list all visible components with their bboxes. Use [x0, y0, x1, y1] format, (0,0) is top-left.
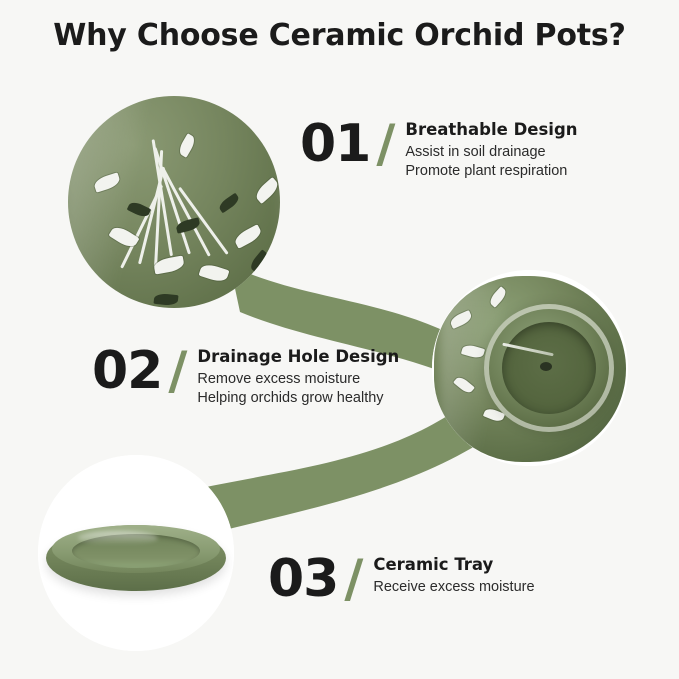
cutout-leaf — [177, 133, 198, 158]
feature-number-3: 03 — [268, 553, 338, 605]
feature-text-3: Ceramic Tray Receive excess moisture — [373, 553, 534, 597]
feature-number-1: 01 — [300, 118, 370, 170]
pot-highlight — [68, 96, 152, 308]
feature-number-2: 02 — [92, 345, 162, 397]
feature-text-1: Breathable Design Assist in soil drainag… — [405, 118, 577, 181]
perforated-pot-artwork — [68, 96, 280, 308]
feature-image-1 — [68, 96, 280, 308]
feature-line-1-1: Assist in soil drainage — [405, 143, 577, 162]
tray-gloss — [78, 531, 158, 545]
feature-block-3: 03 / Ceramic Tray Receive excess moistur… — [268, 553, 535, 605]
feature-image-2 — [432, 270, 628, 466]
feature-block-1: 01 / Breathable Design Assist in soil dr… — [300, 118, 578, 181]
feature-separator-3: / — [344, 553, 363, 605]
feature-heading-3: Ceramic Tray — [373, 555, 534, 574]
cutout-leaf — [199, 262, 230, 284]
pot-edge-highlight — [254, 96, 280, 308]
cutout-hole — [153, 293, 178, 306]
feature-text-2: Drainage Hole Design Remove excess moist… — [197, 345, 399, 408]
cutout-hole — [217, 193, 241, 214]
cutout-leaf — [153, 256, 185, 275]
feature-line-2-1: Remove excess moisture — [197, 370, 399, 389]
feature-block-2: 02 / Drainage Hole Design Remove excess … — [92, 345, 399, 408]
feature-heading-2: Drainage Hole Design — [197, 347, 399, 366]
feature-separator-1: / — [376, 118, 395, 170]
feature-line-3-1: Receive excess moisture — [373, 578, 534, 597]
drainage-hole — [540, 362, 552, 371]
feature-line-1-2: Promote plant respiration — [405, 162, 577, 181]
infographic-canvas: Why Choose Ceramic Orchid Pots? — [0, 0, 679, 679]
page-title: Why Choose Ceramic Orchid Pots? — [0, 18, 679, 53]
feature-separator-2: / — [168, 345, 187, 397]
feature-line-2-2: Helping orchids grow healthy — [197, 389, 399, 408]
feature-heading-1: Breathable Design — [405, 120, 577, 139]
drainage-pot-artwork — [432, 270, 628, 466]
feature-image-3 — [38, 455, 234, 651]
ceramic-tray-artwork — [38, 455, 234, 651]
